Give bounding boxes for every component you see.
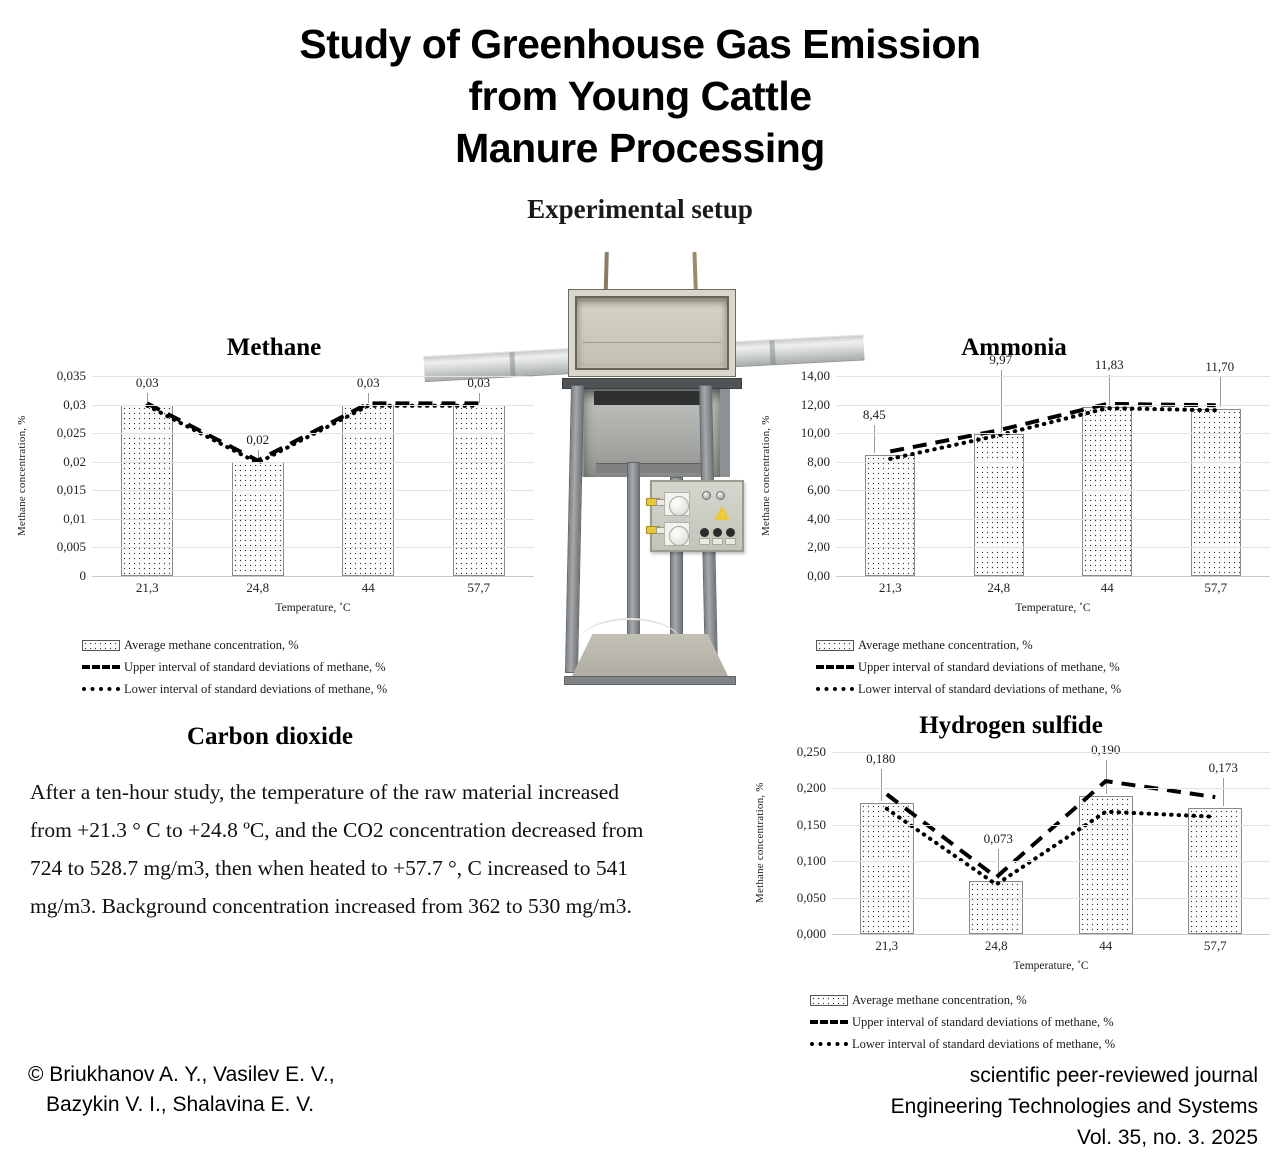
control-knob xyxy=(700,528,709,537)
y-axis-tick-label: 0,005 xyxy=(57,539,86,555)
x-axis-label: Temperature, ˚C xyxy=(92,602,534,614)
knob-label xyxy=(725,538,736,545)
x-axis-tick-label: 21,3 xyxy=(136,580,159,596)
legend-label: Upper interval of standard deviations of… xyxy=(852,1015,1114,1030)
bar-value-label: 11,83 xyxy=(1095,357,1124,373)
y-axis-tick-label: 8,00 xyxy=(807,454,830,470)
x-axis-tick-label: 24,8 xyxy=(985,938,1008,954)
y-axis-tick-label: 0,02 xyxy=(63,454,86,470)
legend-row-upper: Upper interval of standard deviations of… xyxy=(806,1011,1115,1033)
gridline xyxy=(92,462,534,463)
legend-row-average: Average methane concentration, % xyxy=(806,989,1115,1011)
gridline xyxy=(832,788,1270,789)
y-axis-tick-label: 0,015 xyxy=(57,482,86,498)
base-platform xyxy=(570,634,730,680)
control-knob xyxy=(726,528,735,537)
legend-ammonia: Average methane concentration, % Upper i… xyxy=(812,634,1121,700)
chart-methane: Methane Methane concentration, % 00,0050… xyxy=(14,334,534,614)
y-axis-tick-label: 0,200 xyxy=(797,780,826,796)
legend-row-upper: Upper interval of standard deviations of… xyxy=(812,656,1121,678)
open-chamber-lid xyxy=(569,290,735,376)
legend-row-average: Average methane concentration, % xyxy=(78,634,387,656)
plot-grid: 8,459,9711,8311,70 xyxy=(836,376,1270,576)
y-axis-tick-label: 0 xyxy=(80,568,87,584)
title-line-3: Manure Processing xyxy=(0,122,1280,174)
control-knob xyxy=(713,528,722,537)
x-axis-label: Temperature, ˚C xyxy=(832,960,1270,972)
gridline xyxy=(92,576,534,577)
x-axis-tick-label: 24,8 xyxy=(246,580,269,596)
y-axis-tick-label: 6,00 xyxy=(807,482,830,498)
legend-label: Lower interval of standard deviations of… xyxy=(124,682,387,697)
gridline xyxy=(836,376,1270,377)
journal-line-2: Engineering Technologies and Systems xyxy=(891,1091,1258,1122)
upper-deviation-line xyxy=(887,781,1216,877)
legend-swatch-dashed-icon xyxy=(806,1020,852,1024)
y-axis-tick-label: 10,00 xyxy=(801,425,830,441)
knob-label xyxy=(712,538,723,545)
gridline xyxy=(92,490,534,491)
chamber-top-plate xyxy=(562,378,742,389)
y-axis-label: Methane concentration, % xyxy=(758,376,774,576)
gridline xyxy=(832,752,1270,753)
legend-label: Lower interval of standard deviations of… xyxy=(852,1037,1115,1052)
y-axis-tick-label: 0,00 xyxy=(807,568,830,584)
x-axis-tick-label: 57,7 xyxy=(467,580,490,596)
x-axis-tick-label: 57,7 xyxy=(1204,938,1227,954)
lower-deviation-line xyxy=(147,406,479,463)
y-axis-tick-label: 0,01 xyxy=(63,511,86,527)
authors-line-1: © Briukhanov A. Y., Vasilev E. V., xyxy=(28,1060,335,1090)
x-axis-label: Temperature, ˚C xyxy=(836,602,1270,614)
legend-row-lower: Lower interval of standard deviations of… xyxy=(812,678,1121,700)
y-axis-tick-label: 0,050 xyxy=(797,890,826,906)
y-axis-ticks: 0,0000,0500,1000,1500,2000,250 xyxy=(768,752,826,934)
gridline xyxy=(832,825,1270,826)
y-axis-tick-label: 0,035 xyxy=(57,368,86,384)
chart-ammonia: Ammonia Methane concentration, % 0,002,0… xyxy=(758,334,1270,614)
gridline xyxy=(836,490,1270,491)
gridline xyxy=(836,462,1270,463)
y-axis-tick-label: 12,00 xyxy=(801,397,830,413)
control-panel xyxy=(650,480,744,552)
gridline xyxy=(832,934,1270,935)
gridline xyxy=(836,433,1270,434)
x-axis-tick-label: 44 xyxy=(1101,580,1114,596)
y-axis-tick-label: 0,150 xyxy=(797,817,826,833)
y-axis-tick-label: 0,100 xyxy=(797,853,826,869)
title-line-2: from Young Cattle xyxy=(0,70,1280,122)
journal-info: scientific peer-reviewed journal Enginee… xyxy=(891,1060,1258,1153)
deviation-lines xyxy=(832,752,1270,934)
gridline xyxy=(92,376,534,377)
gridline xyxy=(92,547,534,548)
x-axis-tick-label: 21,3 xyxy=(879,580,902,596)
plot-area: Methane concentration, % 00,0050,010,015… xyxy=(14,376,534,576)
experimental-setup-photo xyxy=(552,252,752,720)
gridline xyxy=(832,898,1270,899)
gridline xyxy=(836,547,1270,548)
legend-swatch-bar-icon xyxy=(806,995,852,1006)
y-axis-tick-label: 0,03 xyxy=(63,397,86,413)
legend-swatch-bar-icon xyxy=(78,640,124,651)
experimental-setup-caption: Experimental setup xyxy=(0,194,1280,225)
frame-leg xyxy=(565,385,584,673)
indicator-light-icon xyxy=(716,491,725,500)
chart-title: Ammonia xyxy=(758,334,1270,362)
y-axis-tick-label: 4,00 xyxy=(807,511,830,527)
base-rail xyxy=(564,676,736,685)
bar-value-label: 9,97 xyxy=(989,352,1012,368)
gridline xyxy=(836,519,1270,520)
legend-row-average: Average methane concentration, % xyxy=(812,634,1121,656)
electrical-hazard-icon xyxy=(714,506,730,520)
y-axis-tick-label: 0,000 xyxy=(797,926,826,942)
gridline xyxy=(92,519,534,520)
legend-swatch-dotted-icon xyxy=(812,687,858,691)
chart-hydrogen-sulfide: Hydrogen sulfide Methane concentration, … xyxy=(752,712,1270,972)
gridline xyxy=(92,405,534,406)
legend-methane: Average methane concentration, % Upper i… xyxy=(78,634,387,700)
x-axis-ticks: 21,324,84457,7 xyxy=(92,580,534,602)
plot-area: Methane concentration, % 0,002,004,006,0… xyxy=(758,376,1270,576)
y-axis-ticks: 0,002,004,006,008,0010,0012,0014,00 xyxy=(774,376,830,576)
gridline xyxy=(92,433,534,434)
upper-deviation-line xyxy=(147,403,479,460)
legend-label: Average methane concentration, % xyxy=(858,638,1033,653)
gridline xyxy=(836,405,1270,406)
x-axis-tick-label: 44 xyxy=(362,580,375,596)
gridline xyxy=(836,576,1270,577)
knob-label xyxy=(699,538,710,545)
title-line-1: Study of Greenhouse Gas Emission xyxy=(0,18,1280,70)
legend-swatch-dotted-icon xyxy=(806,1042,852,1046)
carbon-dioxide-section: Carbon dioxide After a ten-hour study, t… xyxy=(30,723,670,925)
authors-credit: © Briukhanov A. Y., Vasilev E. V., Bazyk… xyxy=(28,1060,335,1120)
carbon-dioxide-text: After a ten-hour study, the temperature … xyxy=(30,773,660,925)
y-axis-tick-label: 0,250 xyxy=(797,744,826,760)
legend-label: Average methane concentration, % xyxy=(124,638,299,653)
plot-grid: 0,030,020,030,03 xyxy=(92,376,534,576)
x-axis-tick-label: 57,7 xyxy=(1204,580,1227,596)
plot-area: Methane concentration, % 0,0000,0500,100… xyxy=(752,752,1270,934)
gridline xyxy=(832,861,1270,862)
deviation-lines xyxy=(836,376,1270,576)
legend-hydrogen-sulfide: Average methane concentration, % Upper i… xyxy=(806,989,1115,1055)
legend-label: Upper interval of standard deviations of… xyxy=(124,660,386,675)
y-axis-tick-label: 14,00 xyxy=(801,368,830,384)
indicator-light-icon xyxy=(702,491,711,500)
timer-dial xyxy=(664,522,690,546)
authors-line-2: Bazykin V. I., Shalavina E. V. xyxy=(28,1090,335,1120)
thermostat-dial xyxy=(664,492,690,516)
journal-line-1: scientific peer-reviewed journal xyxy=(891,1060,1258,1091)
legend-swatch-dashed-icon xyxy=(812,665,858,669)
y-axis-tick-label: 2,00 xyxy=(807,539,830,555)
x-axis-tick-label: 21,3 xyxy=(875,938,898,954)
y-axis-label: Methane concentration, % xyxy=(752,752,768,934)
plot-grid: 0,1800,0730,1900,173 xyxy=(832,752,1270,934)
y-axis-tick-label: 0,025 xyxy=(57,425,86,441)
legend-swatch-dashed-icon xyxy=(78,665,124,669)
legend-swatch-bar-icon xyxy=(812,640,858,651)
legend-row-lower: Lower interval of standard deviations of… xyxy=(78,678,387,700)
journal-line-3: Vol. 35, no. 3. 2025 xyxy=(891,1122,1258,1153)
y-axis-label: Methane concentration, % xyxy=(14,376,30,576)
legend-label: Lower interval of standard deviations of… xyxy=(858,682,1121,697)
x-axis-ticks: 21,324,84457,7 xyxy=(836,580,1270,602)
bar-value-label: 11,70 xyxy=(1205,359,1234,375)
upper-deviation-line xyxy=(890,404,1216,452)
carbon-dioxide-title: Carbon dioxide xyxy=(30,723,510,751)
deviation-lines xyxy=(92,376,534,576)
chart-title: Methane xyxy=(14,334,534,362)
legend-row-lower: Lower interval of standard deviations of… xyxy=(806,1033,1115,1055)
y-axis-ticks: 00,0050,010,0150,020,0250,030,035 xyxy=(30,376,86,576)
legend-label: Upper interval of standard deviations of… xyxy=(858,660,1120,675)
x-axis-tick-label: 24,8 xyxy=(987,580,1010,596)
page-title: Study of Greenhouse Gas Emission from Yo… xyxy=(0,18,1280,174)
lower-deviation-line xyxy=(887,809,1216,885)
x-axis-ticks: 21,324,84457,7 xyxy=(832,938,1270,960)
chart-title: Hydrogen sulfide xyxy=(752,712,1270,740)
legend-row-upper: Upper interval of standard deviations of… xyxy=(78,656,387,678)
legend-label: Average methane concentration, % xyxy=(852,993,1027,1008)
x-axis-tick-label: 44 xyxy=(1099,938,1112,954)
legend-swatch-dotted-icon xyxy=(78,687,124,691)
